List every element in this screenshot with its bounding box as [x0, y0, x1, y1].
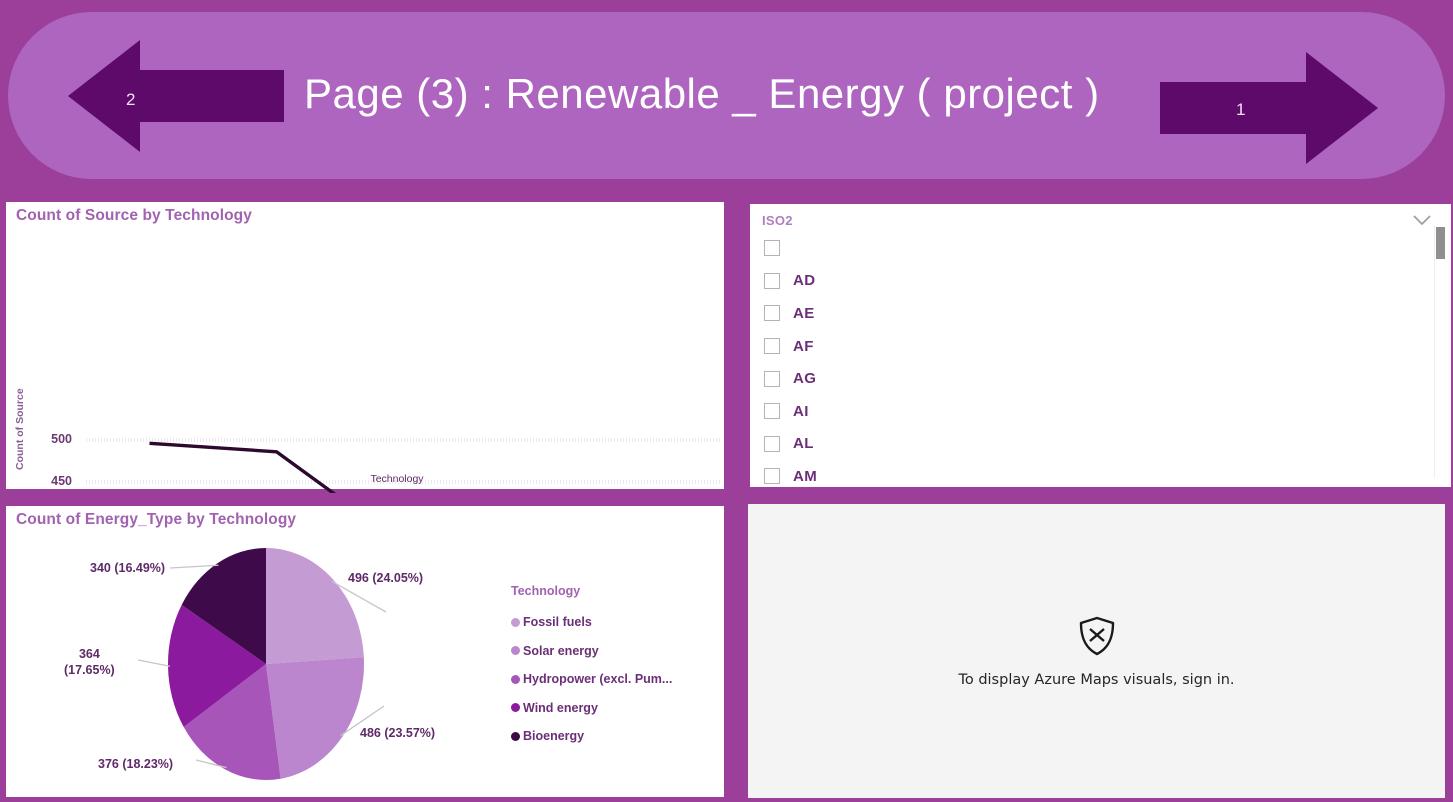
previous-page-arrow-label: 2	[126, 90, 135, 110]
line-chart-x-axis-title: Technology	[337, 473, 457, 485]
pie-slice[interactable]	[266, 548, 364, 664]
legend-color-swatch	[511, 675, 520, 684]
pie-chart-visual[interactable]: Count of Energy_Type by Technology 496 (…	[4, 504, 726, 799]
line-series-path	[150, 443, 658, 493]
slicer-item[interactable]: AD	[764, 265, 1064, 298]
slicer-checkbox[interactable]	[764, 403, 780, 419]
legend-color-swatch	[511, 703, 520, 712]
slicer-item-label: AI	[793, 403, 809, 420]
pie-legend-item[interactable]: Bioenergy	[511, 722, 726, 751]
slicer-item-label: AG	[793, 370, 816, 387]
slicer-checkbox[interactable]	[764, 468, 780, 484]
pie-slice[interactable]	[266, 657, 364, 779]
pie-legend-title: Technology	[511, 584, 726, 598]
next-page-arrow-label: 1	[1236, 100, 1245, 120]
pie-leader-line	[170, 565, 218, 568]
azure-maps-visual[interactable]: To display Azure Maps visuals, sign in.	[748, 504, 1445, 798]
slicer-header-label: ISO2	[762, 213, 793, 228]
legend-item-label: Bioenergy	[523, 729, 584, 743]
slicer-checkbox[interactable]	[764, 338, 780, 354]
line-chart-plot-area: 300350400450500	[6, 202, 724, 489]
legend-item-label: Wind energy	[523, 701, 598, 715]
pie-data-label: 340 (16.49%)	[90, 560, 165, 576]
line-chart-visual[interactable]: Count of Source by Technology Count of S…	[4, 200, 726, 491]
pie-legend-rows: Fossil fuelsSolar energyHydropower (excl…	[511, 608, 726, 751]
chevron-down-icon[interactable]	[1411, 213, 1433, 232]
slicer-item-list: ADAEAFAGAIALAM	[764, 232, 1064, 493]
legend-color-swatch	[511, 618, 520, 627]
right-arrow-icon	[1160, 50, 1378, 166]
pie-leader-line	[138, 660, 170, 666]
legend-color-swatch	[511, 646, 520, 655]
pie-legend-item[interactable]: Hydropower (excl. Pum...	[511, 665, 726, 694]
pie-data-label: 486 (23.57%)	[360, 725, 435, 741]
slicer-item[interactable]: AL	[764, 428, 1064, 461]
slicer-item-label: AL	[793, 435, 814, 452]
slicer-scrollbar[interactable]	[1434, 226, 1445, 478]
legend-item-label: Solar energy	[523, 644, 599, 658]
slicer-item-label: AE	[793, 305, 815, 322]
line-chart-series-svg	[6, 202, 728, 493]
page-title: Page (3) : Renewable _ Energy ( project …	[304, 70, 1154, 118]
slicer-item[interactable]: AM	[764, 460, 1064, 493]
pie-data-label: 376 (18.23%)	[98, 756, 173, 772]
slicer-item[interactable]: AF	[764, 330, 1064, 363]
slicer-item[interactable]: AG	[764, 362, 1064, 395]
legend-item-label: Hydropower (excl. Pum...	[523, 672, 672, 686]
slicer-item-label: AD	[793, 272, 815, 289]
slicer-checkbox[interactable]	[764, 371, 780, 387]
slicer-item-label: AM	[793, 468, 817, 485]
slicer-item[interactable]: AI	[764, 395, 1064, 428]
slicer-scrollbar-thumb[interactable]	[1436, 227, 1445, 259]
slicer-checkbox[interactable]	[764, 436, 780, 452]
slicer-item-label: AF	[793, 338, 814, 355]
pie-data-label: 364(17.65%)	[64, 646, 115, 678]
legend-color-swatch	[511, 732, 520, 741]
pie-legend-item[interactable]: Fossil fuels	[511, 608, 726, 637]
azure-maps-message: To display Azure Maps visuals, sign in.	[958, 672, 1234, 688]
pie-chart-legend: Technology Fossil fuelsSolar energyHydro…	[511, 584, 726, 751]
y-axis-tick-label: 500	[38, 432, 72, 446]
y-axis-tick-label: 450	[38, 474, 72, 488]
next-page-arrow-button[interactable]	[1160, 50, 1378, 166]
pie-legend-item[interactable]: Wind energy	[511, 694, 726, 723]
slicer-item[interactable]: AE	[764, 297, 1064, 330]
slicer-item[interactable]	[764, 232, 1064, 265]
slicer-checkbox[interactable]	[764, 305, 780, 321]
previous-page-arrow-button[interactable]	[68, 38, 284, 154]
slicer-checkbox[interactable]	[764, 240, 780, 256]
pie-data-label: 496 (24.05%)	[348, 570, 423, 586]
slicer-checkbox[interactable]	[764, 273, 780, 289]
pie-chart-title: Count of Energy_Type by Technology	[16, 511, 296, 529]
legend-item-label: Fossil fuels	[523, 615, 592, 629]
left-arrow-icon	[68, 38, 284, 154]
azure-maps-signin-prompt: To display Azure Maps visuals, sign in.	[748, 504, 1445, 798]
page-header-banner: 2 1 Page (3) : Renewable _ Energy ( proj…	[8, 12, 1445, 179]
iso2-slicer-visual[interactable]: ISO2 ADAEAFAGAIALAM	[748, 202, 1453, 489]
shield-x-icon	[1077, 615, 1117, 662]
pie-legend-item[interactable]: Solar energy	[511, 637, 726, 666]
